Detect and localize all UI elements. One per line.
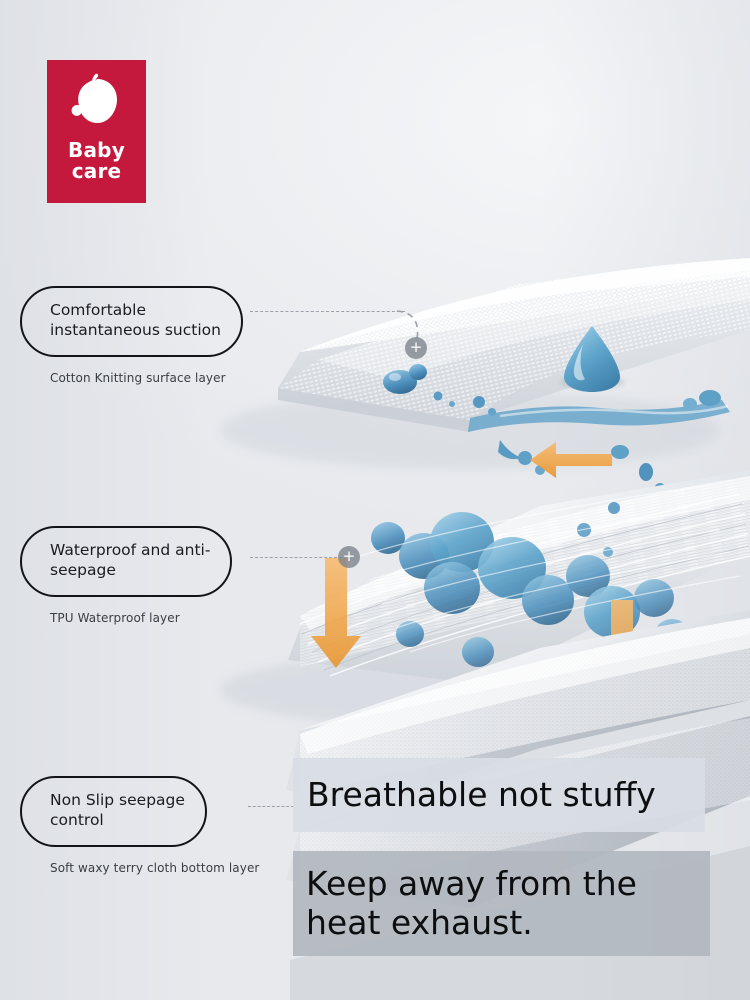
banner-breathable: Breathable not stuffy bbox=[293, 758, 705, 832]
callout-cotton-knit: Comfortable instantaneous suction Cotton… bbox=[20, 286, 243, 385]
plus-icon-1[interactable]: + bbox=[405, 337, 427, 359]
banner-heat-text: Keep away from the heat exhaust. bbox=[306, 865, 637, 943]
baby-head-icon bbox=[66, 73, 128, 131]
callout-title-1[interactable]: Comfortable instantaneous suction bbox=[20, 286, 243, 357]
callout-title-2[interactable]: Waterproof and anti- seepage bbox=[20, 526, 232, 597]
banner-breathable-text: Breathable not stuffy bbox=[307, 776, 656, 815]
connector-line-1 bbox=[250, 311, 405, 312]
brand-logo: Baby care bbox=[47, 60, 146, 203]
callout-caption-3: Soft waxy terry cloth bottom layer bbox=[50, 861, 259, 875]
callout-caption-1: Cotton Knitting surface layer bbox=[50, 371, 243, 385]
callout-title-3[interactable]: Non Slip seepage control bbox=[20, 776, 207, 847]
plus-icon-2[interactable]: + bbox=[338, 546, 360, 568]
callout-tpu: Waterproof and anti- seepage TPU Waterpr… bbox=[20, 526, 232, 625]
connector-line-3 bbox=[248, 806, 294, 807]
callout-non-slip: Non Slip seepage control Soft waxy terry… bbox=[20, 776, 259, 875]
callout-caption-2: TPU Waterproof layer bbox=[50, 611, 232, 625]
connector-line-2 bbox=[250, 557, 342, 558]
banner-heat-warning: Keep away from the heat exhaust. bbox=[293, 851, 710, 956]
brand-name-line2: care bbox=[68, 161, 125, 182]
brand-name: Baby care bbox=[68, 140, 125, 182]
layer-cotton-knit bbox=[220, 258, 750, 470]
